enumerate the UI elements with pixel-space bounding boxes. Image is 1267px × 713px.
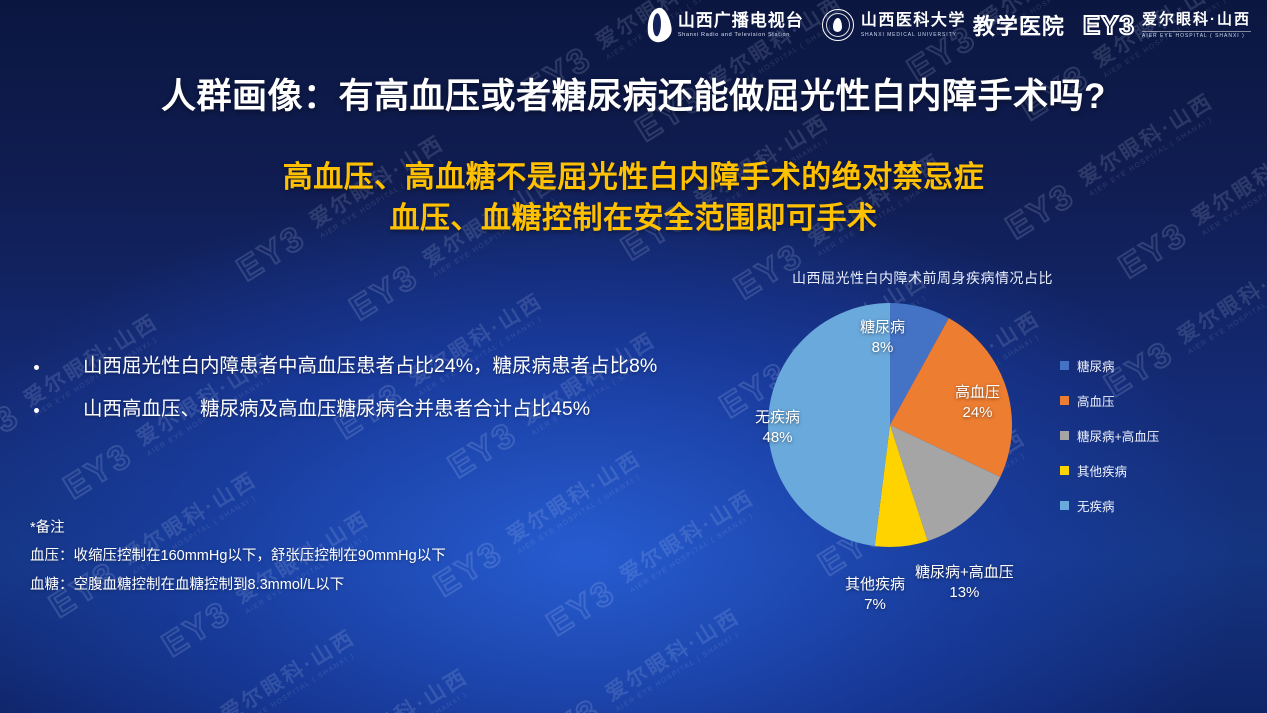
list-item: 山西屈光性白内障患者中高血压患者占比24%，糖尿病患者占比8% [34,352,734,381]
logo-university-text: 山西医科大学 SHANXI MEDICAL UNIVERSITY [861,13,966,38]
pie-label-both: 糖尿病+高血压 13% [915,563,1014,603]
watermark-cn: 爱尔眼科·山西 [330,666,472,713]
watermark-en: AIER EYE HOSPITAL ( SHANXI ) [615,626,749,713]
chart-legend: 糖尿病高血压糖尿病+高血压其他疾病无疾病 [1060,356,1159,515]
bullet-dot-icon [34,408,39,413]
legend-item-4[interactable]: 无疾病 [1060,496,1159,515]
legend-label: 高血压 [1077,391,1115,410]
watermark-en: AIER EYE HOSPITAL ( SHANXI ) [516,468,650,556]
legend-item-0[interactable]: 糖尿病 [1060,356,1159,375]
watermark-text: 爱尔眼科·山西 AIER EYE HOSPITAL ( SHANXI ) [503,448,650,556]
legend-item-2[interactable]: 糖尿病+高血压 [1060,426,1159,445]
bullet-text: 山西高血压、糖尿病及高血压糖尿病合并患者合计占比45% [83,395,590,424]
logo-aier-en: AIER EYE HOSPITAL ( SHANXI ) [1142,31,1251,39]
legend-label: 糖尿病+高血压 [1077,426,1159,445]
footnote-line-2: 血糖：空腹血糖控制在血糖控制到8.3mmol/L以下 [30,571,446,599]
logo-aier-text: 爱尔眼科·山西 AIER EYE HOSPITAL ( SHANXI ) [1142,12,1251,39]
watermark-eye-icon: EY3 [526,691,609,713]
slide-canvas: EY3 爱尔眼科·山西 AIER EYE HOSPITAL ( SHANXI )… [0,0,1267,713]
pie-label-none-name: 无疾病 [755,408,800,428]
legend-swatch-icon [1060,501,1069,510]
watermark-eye-icon: EY3 [343,257,426,329]
legend-item-1[interactable]: 高血压 [1060,391,1159,410]
pie-label-both-name: 糖尿病+高血压 [915,563,1014,583]
legend-swatch-icon [1060,431,1069,440]
logo-shanxi-tv-text: 山西广播电视台 Shanxi Radio and Television Stat… [678,12,804,39]
pie-label-hypertension-value: 24% [955,403,1000,423]
logo-shanxi-tv-en: Shanxi Radio and Television Station [678,33,804,39]
page-title: 人群画像：有高血压或者糖尿病还能做屈光性白内障手术吗? [0,68,1267,119]
footnote-heading: *备注 [30,514,446,542]
logo-university-name: 山西医科大学 [861,13,966,29]
pie-label-hypertension: 高血压 24% [955,383,1000,423]
seal-flame-icon [833,18,842,32]
watermark-item: EY3 爱尔眼科·山西 AIER EYE HOSPITAL ( SHANXI ) [427,444,652,605]
pie-label-other-value: 7% [845,595,905,615]
pie-label-none: 无疾病 48% [755,408,800,448]
watermark-text: 爱尔眼科·山西 AIER EYE HOSPITAL ( SHANXI ) [217,626,364,713]
bullet-dot-icon [34,365,39,370]
watermark-en: AIER EYE HOSPITAL ( SHANXI ) [343,686,477,713]
legend-swatch-icon [1060,396,1069,405]
logo-shanxi-medical-university: 山西医科大学 SHANXI MEDICAL UNIVERSITY 教学医院 [822,9,1065,41]
legend-label: 糖尿病 [1077,356,1115,375]
watermark-cn: 爱尔眼科·山西 [217,626,359,713]
watermark-text: 爱尔眼科·山西 AIER EYE HOSPITAL ( SHANXI ) [330,666,477,713]
page-subtitle: 高血压、高血糖不是屈光性白内障手术的绝对禁忌症 血压、血糖控制在安全范围即可手术 [0,158,1267,239]
seal-icon [822,9,854,41]
watermark-eye-icon: EY3 [57,436,140,508]
legend-swatch-icon [1060,466,1069,475]
watermark-cn: 爱尔眼科·山西 [503,448,645,547]
watermark-eye-icon: EY3 [155,593,238,665]
logo-shanxi-tv-name: 山西广播电视台 [678,12,804,29]
list-item: 山西高血压、糖尿病及高血压糖尿病合并患者合计占比45% [34,395,734,424]
bullet-list: 山西屈光性白内障患者中高血压患者占比24%，糖尿病患者占比8% 山西高血压、糖尿… [34,352,734,439]
pie-label-diabetes-name: 糖尿病 [860,318,905,338]
pie-label-diabetes-value: 8% [860,338,905,358]
logo-university-suffix: 教学医院 [973,9,1065,41]
legend-item-3[interactable]: 其他疾病 [1060,461,1159,480]
legend-label: 其他疾病 [1077,461,1127,480]
pie-chart-block: 山西屈光性白内障术前周身疾病情况占比 糖尿病 8% 高血压 24% 糖尿病+高血… [705,268,1250,638]
logo-aier-eye: EY3 爱尔眼科·山西 AIER EYE HOSPITAL ( SHANXI ) [1083,10,1251,41]
logo-shanxi-tv: 山西广播电视台 Shanxi Radio and Television Stat… [647,8,804,42]
logo-aier-name: 爱尔眼科·山西 [1142,12,1251,27]
watermark-item: EY3 爱尔眼科·山西 AIER EYE HOSPITAL ( SHANXI ) [141,623,366,713]
pie-label-hypertension-name: 高血压 [955,383,1000,403]
footnote-block: *备注 血压：收缩压控制在160mmHg以下，舒张压控制在90mmHg以下 血糖… [30,514,446,599]
pie-label-other: 其他疾病 7% [845,575,905,615]
chart-title: 山西屈光性白内障术前周身疾病情况占比 [705,268,1140,288]
bullet-text: 山西屈光性白内障患者中高血压患者占比24%，糖尿病患者占比8% [83,352,657,381]
subtitle-line-1: 高血压、高血糖不是屈光性白内障手术的绝对禁忌症 [0,158,1267,199]
legend-swatch-icon [1060,361,1069,370]
header-logo-bar: 山西广播电视台 Shanxi Radio and Television Stat… [647,8,1251,42]
leaf-icon [645,6,673,43]
pie-label-none-value: 48% [755,428,800,448]
subtitle-line-2: 血压、血糖控制在安全范围即可手术 [0,199,1267,240]
watermark-en: AIER EYE HOSPITAL ( SHANXI ) [230,647,364,713]
logo-university-en: SHANXI MEDICAL UNIVERSITY [861,33,966,38]
watermark-item: EY3 爱尔眼科·山西 AIER EYE HOSPITAL ( SHANXI ) [254,662,479,713]
watermark-eye-icon: EY3 [0,397,27,469]
pie-label-other-name: 其他疾病 [845,575,905,595]
watermark-eye-icon: EY3 [540,572,623,644]
footnote-line-1: 血压：收缩压控制在160mmHg以下，舒张压控制在90mmHg以下 [30,542,446,570]
pie-label-diabetes: 糖尿病 8% [860,318,905,358]
pie-label-both-value: 13% [915,583,1014,603]
eye-logo-icon: EY3 [1083,10,1135,41]
legend-label: 无疾病 [1077,496,1115,515]
